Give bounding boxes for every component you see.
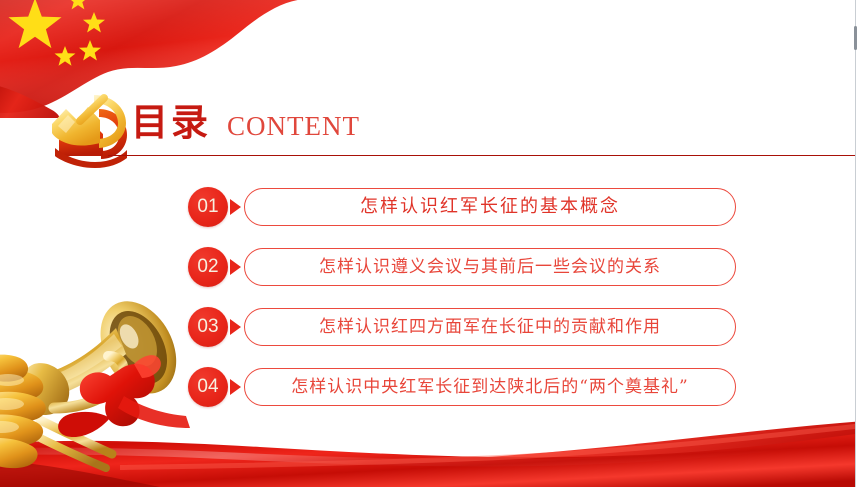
item-number-badge: 02 — [188, 247, 228, 287]
item-pill[interactable]: 怎样认识中央红军长征到达陕北后的“两个奠基礼” — [244, 368, 736, 406]
item-pill[interactable]: 怎样认识遵义会议与其前后一些会议的关系 — [244, 248, 736, 286]
arrow-right-icon — [230, 319, 241, 335]
item-pill[interactable]: 怎样认识红军长征的基本概念 — [244, 188, 736, 226]
list-item[interactable]: 01 怎样认识红军长征的基本概念 — [188, 187, 736, 227]
right-gutter — [856, 0, 864, 487]
vertical-scrollbar-thumb[interactable] — [854, 26, 857, 50]
item-pill[interactable]: 怎样认识红四方面军在长征中的贡献和作用 — [244, 308, 736, 346]
item-label: 怎样认识中央红军长征到达陕北后的“两个奠基礼” — [291, 379, 688, 396]
right-divider — [855, 0, 856, 487]
item-number-badge: 04 — [188, 367, 228, 407]
arrow-right-icon — [230, 379, 241, 395]
list-item[interactable]: 04 怎样认识中央红军长征到达陕北后的“两个奠基礼” — [188, 367, 736, 407]
contents-list: 01 怎样认识红军长征的基本概念 02 怎样认识遵义会议与其前后一些会议的关系 … — [0, 0, 864, 487]
list-item[interactable]: 03 怎样认识红四方面军在长征中的贡献和作用 — [188, 307, 736, 347]
item-number-badge: 01 — [188, 187, 228, 227]
item-number-badge: 03 — [188, 307, 228, 347]
arrow-right-icon — [230, 259, 241, 275]
item-label: 怎样认识遵义会议与其前后一些会议的关系 — [319, 259, 661, 276]
item-label: 怎样认识红四方面军在长征中的贡献和作用 — [319, 319, 661, 336]
arrow-right-icon — [230, 199, 241, 215]
list-item[interactable]: 02 怎样认识遵义会议与其前后一些会议的关系 — [188, 247, 736, 287]
slide-canvas: 目录 CONTENT 01 怎样认识红军长征的基本概念 02 怎样认识遵义会议与… — [0, 0, 864, 487]
item-label: 怎样认识红军长征的基本概念 — [360, 198, 620, 216]
